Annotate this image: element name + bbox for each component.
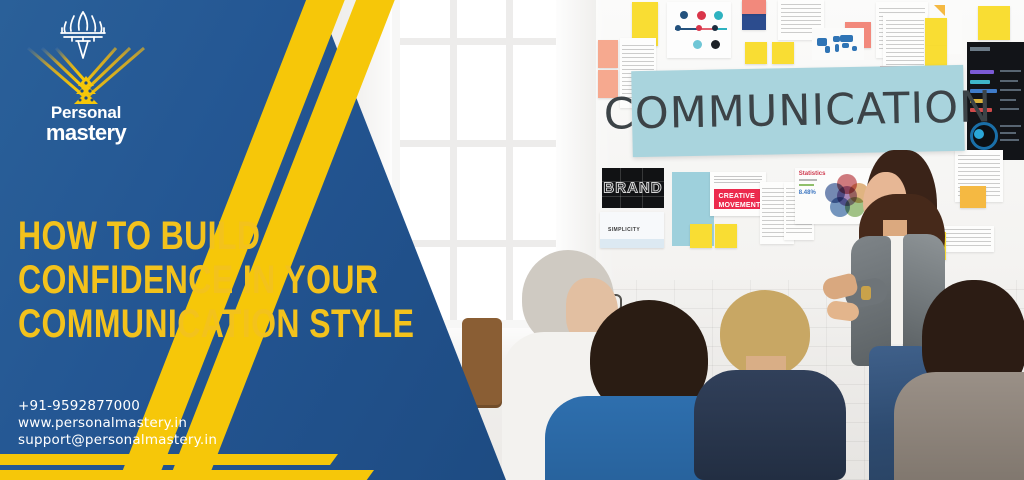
logo-name-line2: mastery	[26, 122, 146, 144]
sticky-note	[745, 42, 767, 64]
brand-poster-label: BRAND	[602, 180, 664, 197]
creative-movement-paper: CREATIVE MOVEMENT	[710, 172, 766, 216]
contact-website[interactable]: www.personalmastery.in	[18, 415, 217, 432]
sticky-note	[715, 224, 737, 248]
contact-phone[interactable]: +91-9592877000	[18, 398, 217, 415]
logo[interactable]: Personal mastery	[26, 6, 146, 146]
contact-email[interactable]: support@personalmastery.in	[18, 432, 217, 449]
sticky-note	[598, 40, 618, 68]
headline-line-1: HOW TO BUILD	[18, 214, 362, 258]
sticky-note	[978, 6, 1010, 40]
audience-member-navy-blazer	[690, 290, 850, 480]
audience-body	[894, 372, 1024, 480]
creative-movement-label: CREATIVE MOVEMENT	[714, 189, 761, 209]
presenter-watch	[861, 286, 871, 300]
text-paper	[883, 14, 927, 72]
headline: HOW TO BUILD CONFIDENCE IN YOUR COMMUNIC…	[18, 214, 362, 346]
converging-arrows-icon	[26, 46, 146, 108]
communication-sign-label: COMMUNICATION	[603, 82, 992, 139]
logo-wordmark: Personal mastery	[26, 104, 146, 144]
simplicity-label: SIMPLICITY	[608, 227, 640, 233]
audience-body	[694, 370, 846, 480]
promo-banner: BRAND SIMPLICITY CREATIVE MOVEMENT Stati…	[0, 0, 1024, 480]
bottom-yellow-bar-2	[0, 470, 366, 480]
communication-sign: COMMUNICATION	[631, 65, 965, 157]
sticky-note	[690, 224, 712, 248]
statistics-title: Statistics	[799, 171, 826, 177]
simplicity-poster: SIMPLICITY	[600, 212, 664, 248]
bottom-yellow-bar-1	[0, 454, 330, 465]
sticky-note	[742, 0, 766, 14]
sticky-note	[772, 42, 794, 64]
logo-name-line1: Personal	[26, 104, 146, 121]
audience-member-grey-sweater	[900, 280, 1024, 480]
headline-line-2: CONFIDENCE IN YOUR	[18, 258, 362, 302]
sticky-note	[925, 18, 947, 46]
flow-chart-paper	[667, 2, 731, 58]
brand-poster: BRAND	[602, 168, 664, 208]
headline-line-3: COMMUNICATION STYLE	[18, 302, 362, 346]
world-map-poster	[812, 28, 864, 60]
contact-info: +91-9592877000 www.personalmastery.in su…	[18, 398, 217, 449]
